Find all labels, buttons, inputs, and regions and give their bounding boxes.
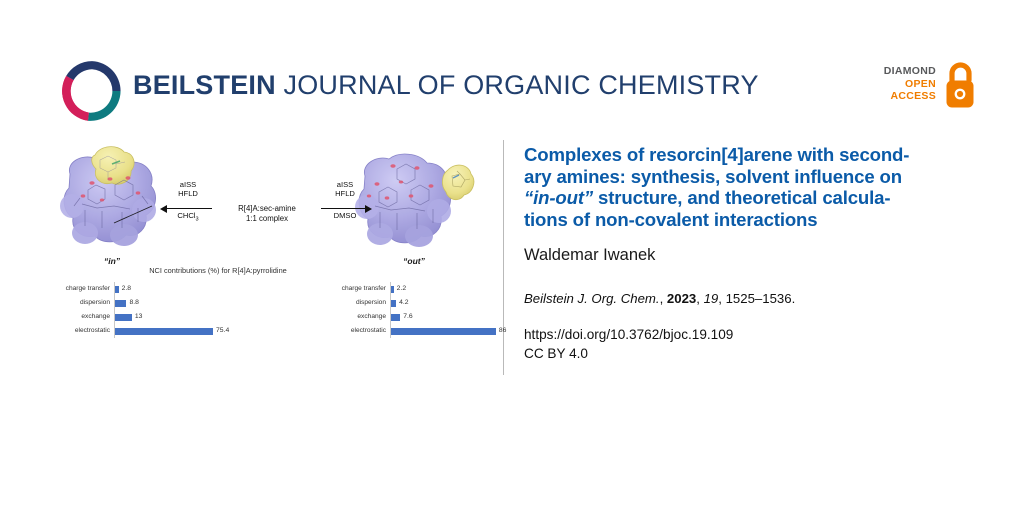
chart-right-row-3: electrostatic 86 <box>324 324 499 338</box>
title-line-1: Complexes of resorcin[4]arene with secon… <box>524 144 909 165</box>
graphical-abstract: “in” <box>44 138 494 368</box>
scheme-center-label: R[4]A:sec-amine 1:1 complex <box>216 204 318 224</box>
left-arrow-solvent-sub: 3 <box>196 217 199 223</box>
left-arrow-method-1: aISS <box>180 180 196 189</box>
column-divider <box>503 140 504 375</box>
article-title: Complexes of resorcin[4]arene with secon… <box>524 144 974 230</box>
article-info-panel: Complexes of resorcin[4]arene with secon… <box>524 144 974 363</box>
open-lock-icon <box>942 60 978 112</box>
chart-right-bar-1 <box>391 300 396 307</box>
license-label: CC BY 4.0 <box>524 344 974 363</box>
chart-right-value-0: 2.2 <box>397 285 406 292</box>
chart-left-row-0: charge transfer 2.8 <box>44 282 259 296</box>
structure-caption-out: “out” <box>349 256 479 266</box>
left-arrow-shaft <box>166 208 212 209</box>
oa-line-diamond: DIAMOND <box>866 65 936 78</box>
chart-in-panel: charge transfer 2.8 dispersion 8.8 excha… <box>44 282 259 344</box>
left-arrow-conditions-above: aISS HFLD <box>164 180 212 199</box>
chart-left-value-0: 2.8 <box>122 285 131 292</box>
diamond-open-access-badge: DIAMOND OPEN ACCESS <box>866 60 978 122</box>
oa-line-open: OPEN <box>866 78 936 91</box>
chart-right-row-2: exchange 7.6 <box>324 310 499 324</box>
right-arrow-solvent: DMSO <box>321 211 369 220</box>
chart-left-row-3: electrostatic 75.4 <box>44 324 259 338</box>
citation-pages: 1525–1536. <box>726 291 796 306</box>
left-arrow-solvent-text: CHCl <box>177 211 195 220</box>
chart-right-bar-2 <box>391 314 400 321</box>
chart-left-bar-3 <box>115 328 213 335</box>
chart-right-category-3: electrostatic <box>324 327 386 334</box>
chart-right-bar-3 <box>391 328 496 335</box>
beilstein-spiral-logo-icon <box>58 57 126 125</box>
journal-wordmark: BEILSTEIN JOURNAL OF ORGANIC CHEMISTRY <box>133 70 759 101</box>
chart-left-value-1: 8.8 <box>129 299 138 306</box>
title-line-2: ary amines: synthesis, solvent influence… <box>524 166 902 187</box>
page-header: BEILSTEIN JOURNAL OF ORGANIC CHEMISTRY D… <box>0 0 1024 130</box>
chart-out-panel: charge transfer 2.2 dispersion 4.2 excha… <box>324 282 499 344</box>
chart-right-value-3: 86 <box>499 327 507 334</box>
chart-left-row-1: dispersion 8.8 <box>44 296 259 310</box>
right-arrow-conditions-above: aISS HFLD <box>321 180 369 199</box>
chart-left-bar-2 <box>115 314 132 321</box>
right-arrow-method-2: HFLD <box>335 189 355 198</box>
citation-sep-2: , <box>696 291 703 306</box>
chart-left-value-3: 75.4 <box>216 327 229 334</box>
citation-volume: 19 <box>704 291 719 306</box>
wordmark-light: JOURNAL OF ORGANIC CHEMISTRY <box>284 70 759 100</box>
chart-right-value-2: 7.6 <box>403 313 412 320</box>
reaction-scheme: aISS HFLD CHCl3 R[4]A:sec-amine 1:1 comp… <box>164 180 369 240</box>
author-name: Waldemar Iwanek <box>524 246 974 265</box>
citation-sep-3: , <box>718 291 725 306</box>
chart-left-bar-1 <box>115 300 126 307</box>
chart-right-row-1: dispersion 4.2 <box>324 296 499 310</box>
chart-right-category-1: dispersion <box>324 299 386 306</box>
citation: Beilstein J. Org. Chem., 2023, 19, 1525–… <box>524 290 974 307</box>
chart-left-category-1: dispersion <box>44 299 110 306</box>
chart-left-category-2: exchange <box>44 313 110 320</box>
citation-year: 2023 <box>667 291 696 306</box>
chart-title: NCI contributions (%) for R[4]A:pyrrolid… <box>44 266 392 275</box>
chart-right-value-1: 4.2 <box>399 299 408 306</box>
right-arrow-method-1: aISS <box>337 180 353 189</box>
chart-left-row-2: exchange 13 <box>44 310 259 324</box>
oa-line-access: ACCESS <box>866 90 936 103</box>
chart-left-category-3: electrostatic <box>44 327 110 334</box>
right-arrow-shaft <box>321 208 367 209</box>
title-in-out-italic: “in-out” <box>524 187 593 208</box>
left-arrow-solvent: CHCl3 <box>164 211 212 225</box>
chart-right-row-0: charge transfer 2.2 <box>324 282 499 296</box>
doi-link[interactable]: https://doi.org/10.3762/bjoc.19.109 <box>524 325 974 344</box>
molecule-structure-in: “in” <box>52 138 172 263</box>
scheme-center-line-1: R[4]A:sec-amine <box>238 204 296 213</box>
wordmark-bold: BEILSTEIN <box>133 70 276 100</box>
chart-left-value-2: 13 <box>135 313 143 320</box>
structure-caption-in: “in” <box>52 256 172 266</box>
open-access-text: DIAMOND OPEN ACCESS <box>866 65 936 103</box>
title-line-4: tions of non-covalent interactions <box>524 209 817 230</box>
scheme-center-line-2: 1:1 complex <box>246 214 288 223</box>
nci-contributions-charts: NCI contributions (%) for R[4]A:pyrrolid… <box>44 266 494 346</box>
chart-right-bar-0 <box>391 286 394 293</box>
chart-left-bar-0 <box>115 286 119 293</box>
citation-journal: Beilstein J. Org. Chem. <box>524 291 660 306</box>
chart-right-category-2: exchange <box>324 313 386 320</box>
title-line-3: structure, and theoretical calcula- <box>593 187 890 208</box>
chart-left-category-0: charge transfer <box>44 285 110 292</box>
chart-right-category-0: charge transfer <box>324 285 386 292</box>
left-arrow-method-2: HFLD <box>178 189 198 198</box>
citation-sep-1: , <box>660 291 667 306</box>
